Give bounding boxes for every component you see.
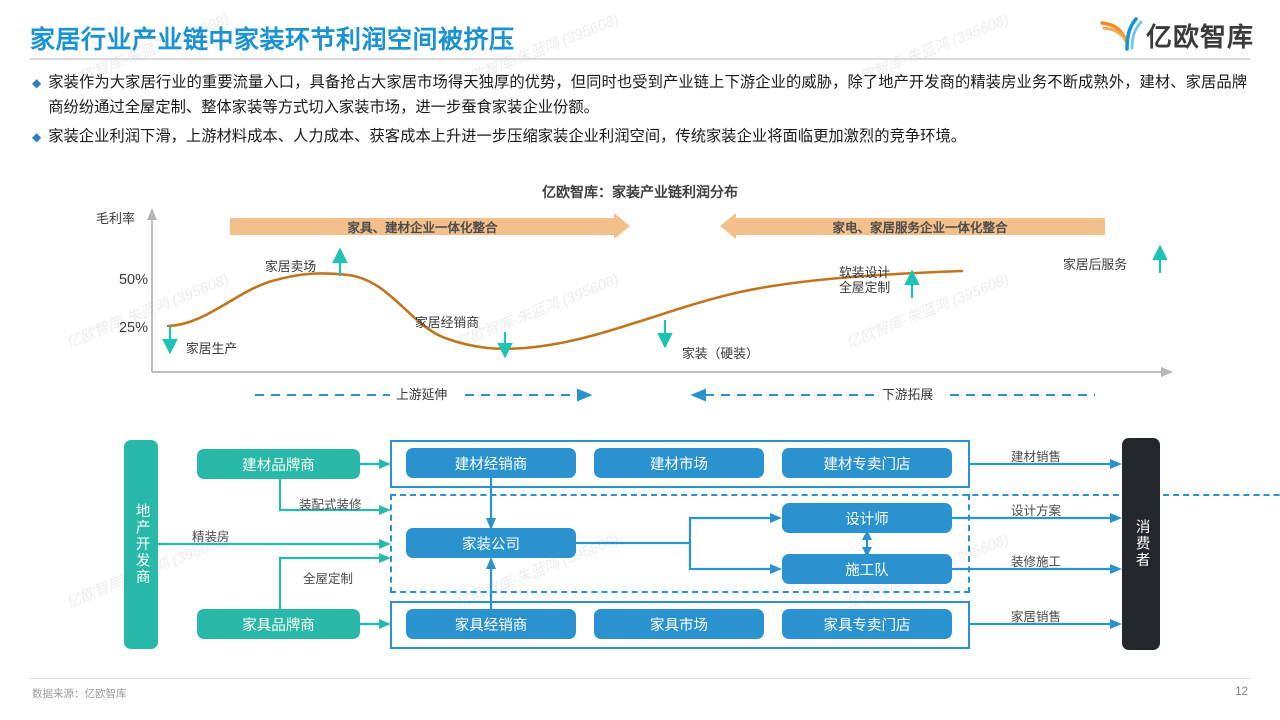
point-label-store: 家居卖场 bbox=[265, 259, 316, 274]
edge-label-home-sales: 家居销售 bbox=[1011, 606, 1061, 625]
point-label-renovation: 家装（硬装） bbox=[682, 346, 759, 361]
page-number: 12 bbox=[1235, 686, 1248, 698]
edge-label-construction: 装修施工 bbox=[1011, 551, 1061, 570]
axis-arrow-label-upstream: 上游延伸 bbox=[392, 387, 451, 402]
point-label-dealer: 家居经销商 bbox=[415, 315, 479, 330]
yiou-brand-mark-icon bbox=[1100, 15, 1142, 55]
footer-divider bbox=[30, 678, 1250, 679]
page-title: 家居行业产业链中家装环节利润空间被挤压 bbox=[30, 20, 515, 56]
edge-label-bm-sales: 建材销售 bbox=[1011, 446, 1061, 465]
bullet-text: 家装企业利润下滑，上游材料成本、人力成本、获客成本上升进一步压缩家装企业利润空间… bbox=[48, 124, 966, 149]
edge-label-design-plan: 设计方案 bbox=[1011, 500, 1061, 519]
header-divider bbox=[30, 58, 1250, 60]
chart-canvas bbox=[0, 180, 1280, 415]
edge-label-whole-house-custom: 全屋定制 bbox=[303, 568, 353, 587]
point-label-production: 家居生产 bbox=[186, 341, 237, 356]
logo-text: 亿欧智库 bbox=[1146, 17, 1254, 54]
slide: 亿欧智库-朱蓝鸿 (395608) 亿欧智库-朱蓝鸿 (395608) 亿欧智库… bbox=[0, 0, 1280, 720]
point-label-soft-design: 软装设计 全屋定制 bbox=[839, 265, 890, 295]
profit-distribution-chart: 亿欧智库：家装产业链利润分布 毛利率 50% 25% 家具、建材企业一体化整合 … bbox=[0, 180, 1280, 415]
diamond-bullet-icon: ◆ bbox=[32, 124, 41, 150]
axis-arrow-label-downstream: 下游拓展 bbox=[878, 387, 937, 402]
band-label: 家电、家居服务企业一体化整合 bbox=[832, 217, 1007, 236]
flow-connectors bbox=[0, 420, 1280, 670]
brand-logo: 亿欧智库 bbox=[1100, 14, 1254, 56]
bullet-text: 家装作为大家居行业的重要流量入口，具备抢占大家居市场得天独厚的优势，但同时也受到… bbox=[48, 70, 1247, 120]
edge-label-prefab-renovation: 装配式装修 bbox=[299, 494, 362, 513]
data-source: 数据来源：亿欧智库 bbox=[32, 686, 127, 701]
list-item: ◆ 家装企业利润下滑，上游材料成本、人力成本、获客成本上升进一步压缩家装企业利润… bbox=[32, 124, 1247, 150]
diamond-bullet-icon: ◆ bbox=[32, 70, 41, 96]
edge-label-finished-housing: 精装房 bbox=[192, 526, 230, 545]
list-item: ◆ 家装作为大家居行业的重要流量入口，具备抢占大家居市场得天独厚的优势，但同时也… bbox=[32, 70, 1247, 120]
value-chain-diagram: 地产开发商 建材品牌商 家具品牌商 建材经销商 建材市场 建材专卖门店 家具经销… bbox=[0, 420, 1280, 670]
point-label-after-service: 家居后服务 bbox=[1063, 257, 1127, 272]
band-label: 家具、建材企业一体化整合 bbox=[347, 217, 497, 236]
bullet-list: ◆ 家装作为大家居行业的重要流量入口，具备抢占大家居市场得天独厚的优势，但同时也… bbox=[32, 70, 1247, 154]
